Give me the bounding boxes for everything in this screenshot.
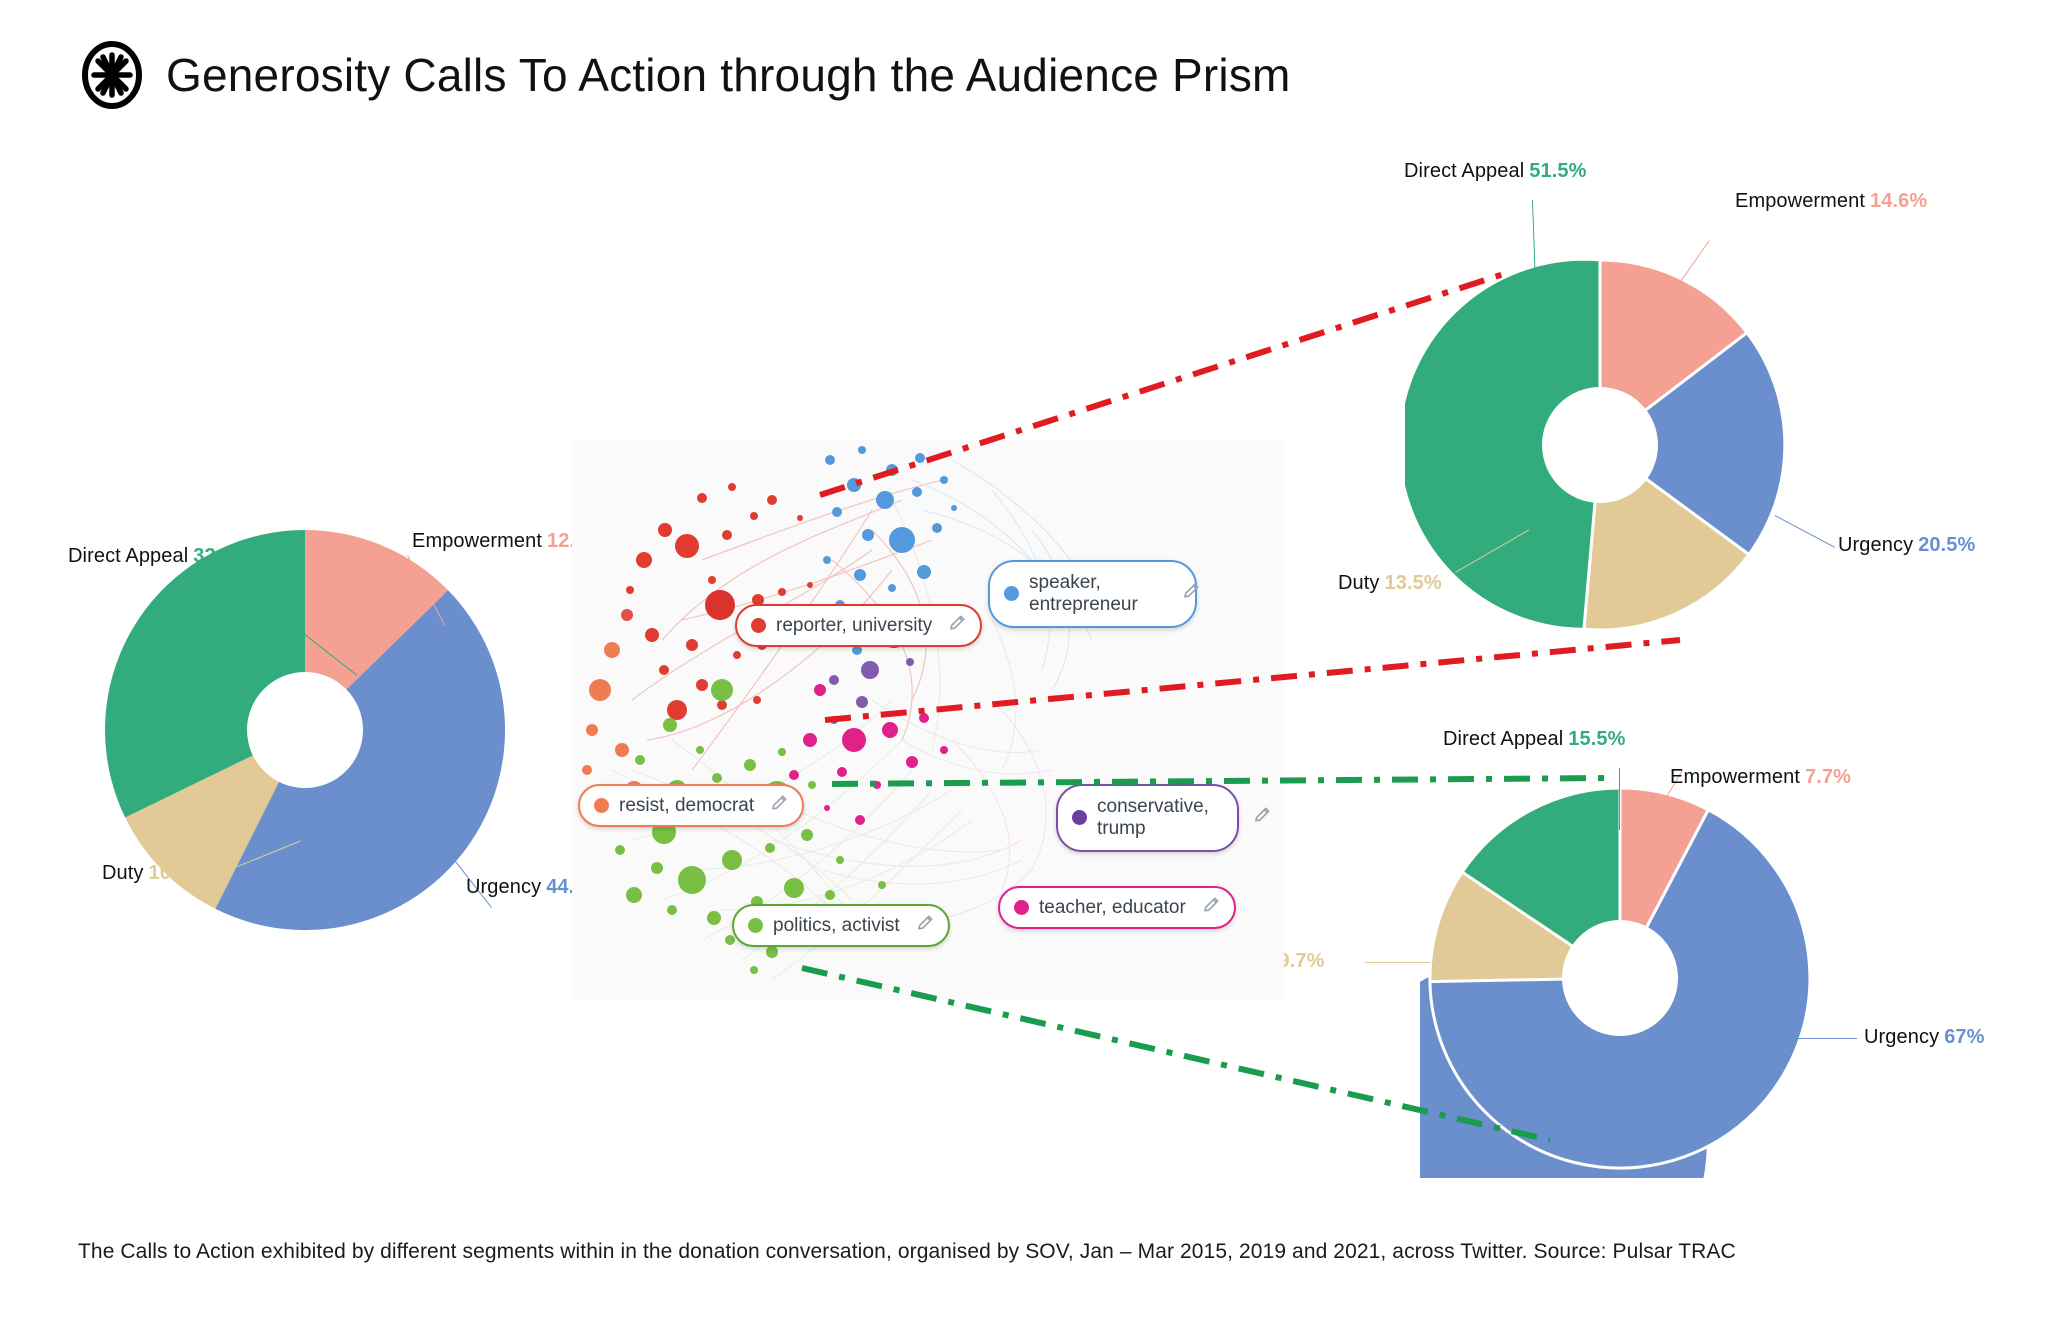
label-value: 67%	[1944, 1026, 1984, 1048]
pill-speaker-entrepreneur[interactable]: speaker, entrepreneur	[988, 560, 1197, 628]
label-direct-appeal-bottom-right: Direct Appeal15.5%	[1443, 728, 1625, 751]
segment-color-dot	[1004, 586, 1019, 601]
label-value: 32.1%	[193, 545, 250, 567]
label-value: 9.7%	[1279, 950, 1325, 972]
segment-color-dot	[594, 798, 609, 813]
label-value: 14.6%	[1870, 190, 1927, 212]
pill-politics-activist[interactable]: politics, activist	[732, 904, 950, 947]
segment-color-dot	[1072, 810, 1087, 825]
pencil-icon[interactable]	[770, 793, 789, 818]
label-urgency-top-right: Urgency20.5%	[1838, 534, 1975, 557]
label-text: Urgency	[1864, 1026, 1939, 1048]
label-text: Empowerment	[1735, 190, 1865, 212]
donut-bottom-right-svg	[1420, 778, 1820, 1178]
label-urgency-bottom-right: Urgency67%	[1864, 1026, 1985, 1049]
donut-chart-top-right	[1405, 250, 1795, 640]
label-empowerment-top-right: Empowerment14.6%	[1735, 190, 1927, 213]
segment-color-dot	[751, 618, 766, 633]
footer-caption: The Calls to Action exhibited by differe…	[78, 1240, 1736, 1264]
leader-line-urgency-bottom-right	[1795, 1038, 1857, 1039]
donut-chart-bottom-right	[1420, 778, 1820, 1178]
label-value: 20.5%	[1918, 534, 1975, 556]
label-text: Empowerment	[1670, 766, 1800, 788]
label-duty-top-right: Duty13.5%	[1338, 572, 1442, 595]
pencil-icon[interactable]	[1202, 895, 1221, 920]
label-text: Urgency	[1838, 534, 1913, 556]
label-text: Duty	[1338, 572, 1380, 594]
leader-line-duty-bottom-right	[1365, 962, 1430, 963]
label-value: 7.7%	[1805, 766, 1851, 788]
pill-reporter-university[interactable]: reporter, university	[735, 604, 982, 647]
segment-color-dot	[748, 918, 763, 933]
label-duty-left: Duty10.4%	[102, 862, 206, 885]
page-title: Generosity Calls To Action through the A…	[166, 48, 1291, 102]
label-text: Duty	[102, 862, 144, 884]
label-text: Urgency	[466, 876, 541, 898]
label-direct-appeal-left: Direct Appeal32.1%	[68, 545, 250, 568]
pencil-icon[interactable]	[1253, 805, 1272, 830]
pencil-icon[interactable]	[948, 613, 967, 638]
pill-teacher-educator[interactable]: teacher, educator	[998, 886, 1236, 929]
asterisk-in-circle-logo-icon	[80, 40, 144, 110]
pencil-icon[interactable]	[916, 913, 935, 938]
pill-label: resist, democrat	[619, 795, 754, 817]
pill-conservative-trump[interactable]: conservative, trump	[1056, 784, 1239, 852]
pill-label: teacher, educator	[1039, 897, 1186, 919]
segment-color-dot	[1014, 900, 1029, 915]
label-text: Direct Appeal	[68, 545, 188, 567]
donut-top-right-svg	[1405, 250, 1795, 640]
pill-resist-democrat[interactable]: resist, democrat	[578, 784, 804, 827]
leader-line-direct-appeal-bottom-right	[1619, 768, 1620, 830]
pill-label: reporter, university	[776, 615, 932, 637]
label-value: 10.4%	[149, 862, 206, 884]
label-empowerment-bottom-right: Empowerment7.7%	[1670, 766, 1851, 789]
label-text: Direct Appeal	[1443, 728, 1563, 750]
network-nodes	[582, 446, 957, 974]
label-value: 13.5%	[1385, 572, 1442, 594]
pencil-icon[interactable]	[1182, 581, 1201, 606]
label-direct-appeal-top-right: Direct Appeal51.5%	[1404, 160, 1586, 183]
label-value: 15.5%	[1568, 728, 1625, 750]
pill-label: speaker, entrepreneur	[1029, 572, 1138, 616]
label-value: 51.5%	[1529, 160, 1586, 182]
pill-label: conservative, trump	[1097, 796, 1209, 840]
label-text: Direct Appeal	[1404, 160, 1524, 182]
page-header: Generosity Calls To Action through the A…	[80, 40, 1291, 110]
label-text: Empowerment	[412, 530, 542, 552]
pill-label: politics, activist	[773, 915, 900, 937]
